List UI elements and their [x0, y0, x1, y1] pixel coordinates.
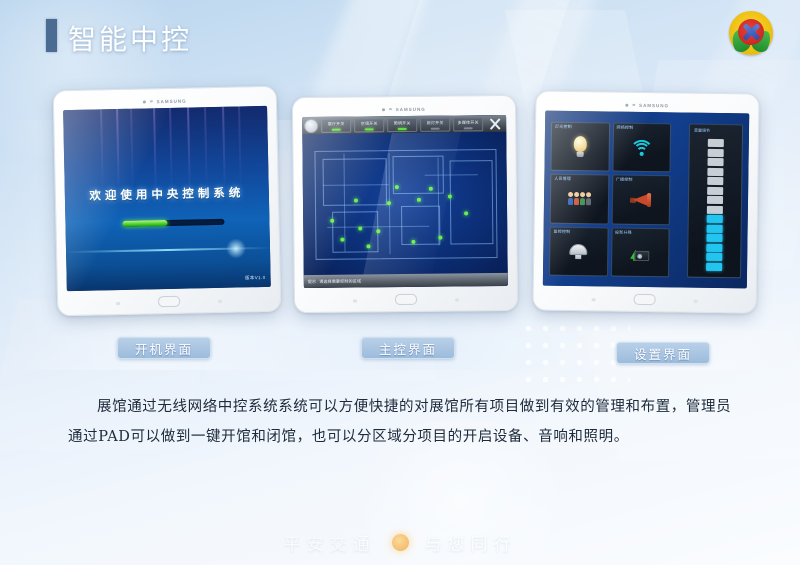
capacitive-key-right[interactable]: [218, 299, 222, 302]
caption-settings[interactable]: 设置界面: [616, 342, 710, 364]
front-camera-icon: [626, 103, 629, 106]
boot-version-label: 版本V1.0: [245, 275, 266, 281]
tile-network[interactable]: 网络控制: [612, 123, 671, 173]
home-button[interactable]: [158, 296, 180, 307]
boot-progress-fill: [123, 220, 168, 227]
emblem-x-icon: [742, 23, 760, 41]
slide-root: 智能中控 SAMSUNG: [0, 0, 800, 565]
toolbar-button-1[interactable]: 空调开关: [354, 118, 384, 132]
brand-label: SAMSUNG: [396, 106, 426, 111]
megaphone-icon: [629, 192, 653, 208]
footer: 平安交通 与您同行: [0, 530, 800, 555]
control-toolbar: 展厅开关 空调开关 照明开关 射灯开关: [302, 115, 506, 134]
floorplan-canvas[interactable]: [302, 132, 507, 275]
front-camera-icon: [143, 100, 146, 103]
sensor-icon: [633, 104, 636, 107]
toolbar-button-3[interactable]: 射灯开关: [420, 117, 450, 131]
wifi-icon: [630, 139, 652, 155]
volume-slider[interactable]: [706, 139, 724, 271]
tile-label: 人员管理: [554, 177, 571, 181]
front-camera-icon: [382, 108, 385, 111]
tile-label: 监控控制: [554, 229, 571, 233]
sensor-icon: [389, 108, 392, 111]
tile-label: 广播控制: [616, 178, 633, 182]
tablet-settings[interactable]: SAMSUNG 灯光控制 网络控制: [532, 90, 759, 313]
footer-orb-icon: [392, 534, 409, 551]
app-logo-icon: [304, 118, 318, 132]
capacitive-key-left[interactable]: [591, 298, 595, 301]
scissors-tools-icon[interactable]: [486, 116, 504, 130]
boot-screen: 欢迎使用中央控制系统 版本V1.0: [63, 106, 271, 291]
toolbar-button-4[interactable]: 多媒体开关: [453, 117, 483, 131]
title-accent-bar: [46, 19, 57, 52]
tile-projector-lift[interactable]: 投影升降: [610, 227, 669, 277]
tablet-screen-boot[interactable]: 欢迎使用中央控制系统 版本V1.0: [63, 106, 271, 291]
org-emblem-icon: [729, 11, 773, 55]
tablet-boot[interactable]: SAMSUNG 欢迎使用中央控制系统: [53, 86, 282, 317]
toolbar-button-0[interactable]: 展厅开关: [321, 118, 351, 132]
volume-panel[interactable]: 音量调节: [687, 124, 743, 279]
settings-tile-grid: 灯光控制 网络控制 人员管理: [549, 122, 671, 278]
toolbar-button-led: [398, 127, 407, 129]
tile-staff[interactable]: 人员管理: [550, 174, 609, 224]
boot-welcome-text: 欢迎使用中央控制系统: [65, 184, 269, 204]
tile-lighting[interactable]: 灯光控制: [550, 122, 609, 172]
tablet-screen-settings[interactable]: 灯光控制 网络控制 人员管理: [543, 111, 749, 289]
lightbulb-icon: [573, 136, 586, 157]
projector-lift-icon: [629, 243, 651, 261]
body-paragraph: 展馆通过无线网络中控系统系统可以方便快捷的对展馆所有项目做到有效的管理和布置，管…: [68, 392, 740, 452]
home-button[interactable]: [634, 294, 656, 305]
footer-left-text: 平安交通: [284, 530, 376, 555]
toolbar-button-label: 展厅开关: [328, 122, 345, 126]
toolbar-button-label: 照明开关: [394, 121, 411, 125]
toolbar-button-label: 射灯开关: [427, 121, 444, 125]
toolbar-button-led: [431, 127, 440, 129]
tablet-screen-main[interactable]: 展厅开关 空调开关 照明开关 射灯开关: [302, 115, 508, 288]
boot-spark-glow: [225, 238, 245, 258]
toolbar-button-2[interactable]: 照明开关: [387, 117, 417, 131]
status-prefix: 提示: [308, 278, 316, 284]
people-group-icon: [568, 192, 591, 205]
sensor-icon: [150, 100, 153, 103]
volume-panel-label: 音量调节: [694, 128, 710, 134]
tile-label: 投影升降: [615, 230, 632, 234]
status-text: 请选择需要控制的区域: [319, 278, 361, 284]
header: 智能中控: [0, 0, 800, 70]
toolbar-button-led: [464, 127, 473, 129]
tablet-brand-row: SAMSUNG: [536, 98, 758, 111]
toolbar-button-led: [332, 128, 341, 130]
tile-broadcast[interactable]: 广播控制: [611, 175, 670, 225]
caption-boot[interactable]: 开机界面: [117, 337, 211, 359]
toolbar-button-led: [365, 128, 374, 130]
footer-right-text: 与您同行: [425, 530, 517, 555]
home-button[interactable]: [395, 294, 417, 305]
capacitive-key-left[interactable]: [353, 299, 357, 302]
tablet-main-control[interactable]: SAMSUNG 展厅开关 空调开关 照明开关: [292, 95, 518, 313]
status-bar: 提示 请选择需要控制的区域: [304, 273, 508, 288]
boot-progress-track: [123, 219, 225, 227]
tile-label: 灯光控制: [555, 125, 572, 129]
capacitive-key-right[interactable]: [694, 299, 698, 302]
page-title: 智能中控: [68, 18, 192, 58]
tile-label: 网络控制: [617, 126, 634, 130]
capacitive-key-left[interactable]: [116, 302, 120, 305]
dot-grid-pattern: [520, 320, 630, 390]
toolbar-button-label: 空调开关: [361, 121, 378, 125]
tile-surveillance[interactable]: 监控控制: [549, 226, 608, 276]
main-control-screen: 展厅开关 空调开关 照明开关 射灯开关: [302, 115, 508, 288]
brand-label: SAMSUNG: [157, 98, 187, 104]
toolbar-button-label: 多媒体开关: [458, 120, 479, 124]
settings-screen: 灯光控制 网络控制 人员管理: [543, 111, 749, 289]
capacitive-key-right[interactable]: [455, 298, 459, 301]
brand-label: SAMSUNG: [639, 102, 669, 107]
tablet-brand-row: SAMSUNG: [293, 103, 515, 115]
caption-main-control[interactable]: 主控界面: [361, 337, 455, 359]
dome-camera-icon: [569, 244, 587, 259]
